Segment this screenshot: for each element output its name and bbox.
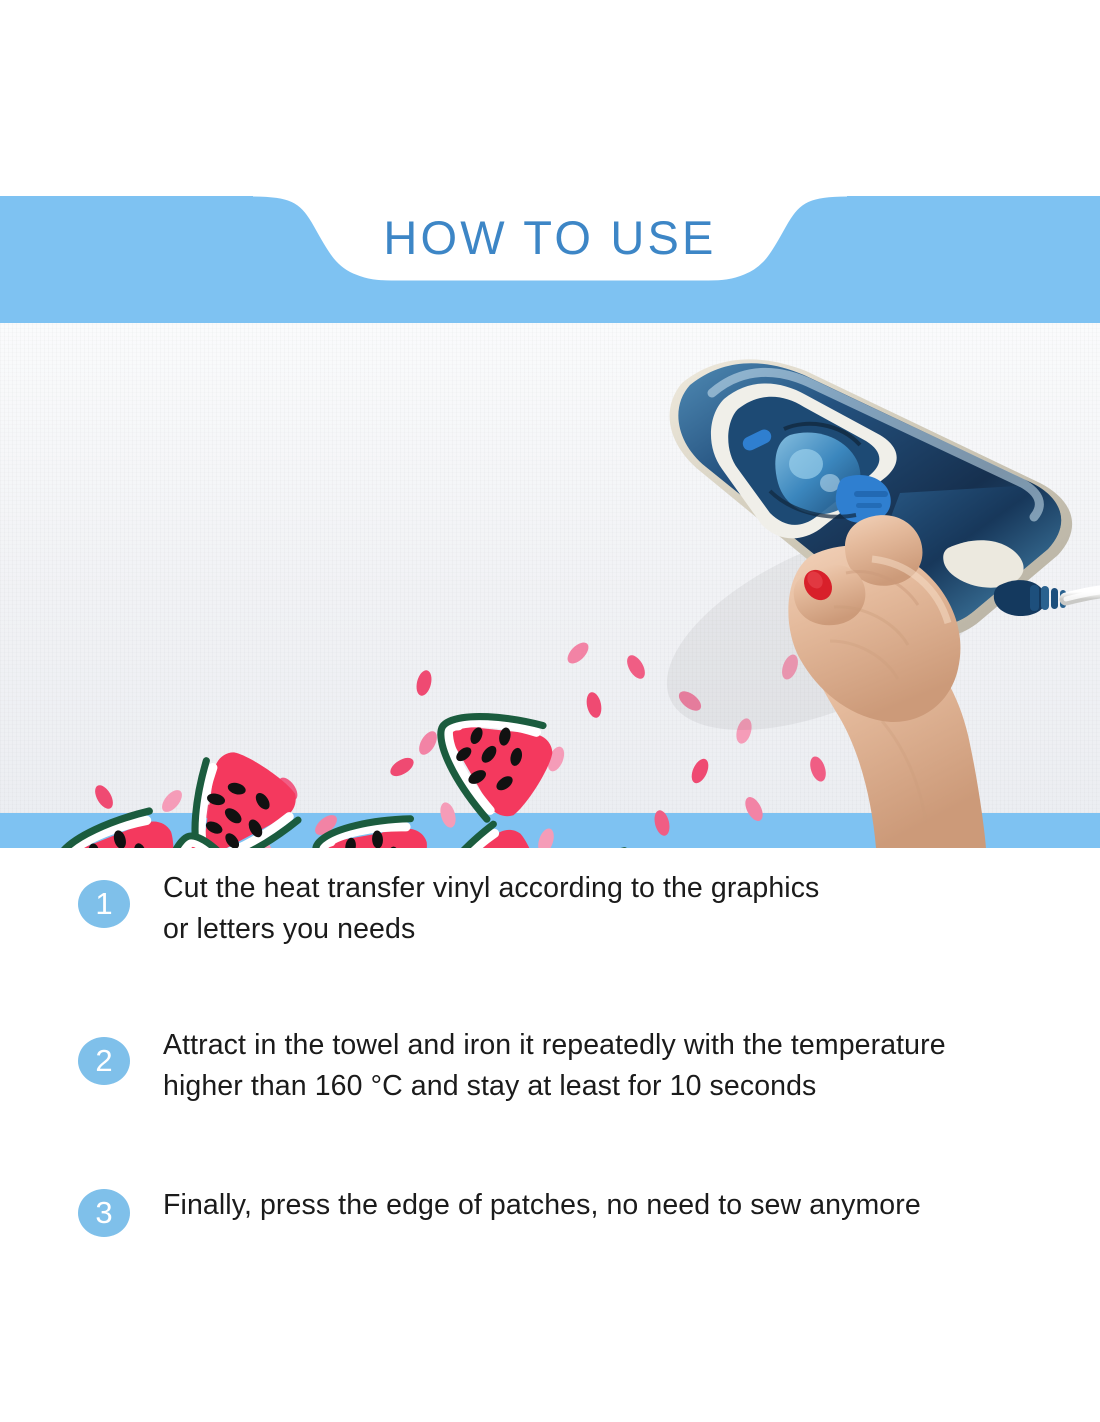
step-item-2: 2 Attract in the towel and iron it repea… <box>0 1025 1100 1107</box>
step-number-badge-2: 2 <box>78 1037 130 1085</box>
step-number-badge-1: 1 <box>78 880 130 928</box>
step-1-line-2: or letters you needs <box>163 909 1060 950</box>
step-2-line-1: Attract in the towel and iron it repeate… <box>163 1025 1060 1066</box>
how-to-use-instruction-page: HOW TO USE <box>0 0 1100 1422</box>
product-photo <box>0 323 1100 848</box>
step-item-3: 3 Finally, press the edge of patches, no… <box>0 1185 1100 1237</box>
iron-cord-boot <box>994 580 1066 616</box>
step-text-2: Attract in the towel and iron it repeate… <box>163 1025 1100 1107</box>
iron-and-hand <box>0 323 1100 848</box>
step-item-1: 1 Cut the heat transfer vinyl according … <box>0 868 1100 950</box>
step-number-badge-3: 3 <box>78 1189 130 1237</box>
step-text-1: Cut the heat transfer vinyl according to… <box>163 868 1100 950</box>
step-1-line-1: Cut the heat transfer vinyl according to… <box>163 868 1060 909</box>
instruction-steps: 1 Cut the heat transfer vinyl according … <box>0 868 1100 1237</box>
step-2-line-2: higher than 160 °C and stay at least for… <box>163 1066 1060 1107</box>
step-3-line-1: Finally, press the edge of patches, no n… <box>163 1185 1060 1226</box>
page-title: HOW TO USE <box>0 210 1100 266</box>
step-text-3: Finally, press the edge of patches, no n… <box>163 1185 1100 1226</box>
